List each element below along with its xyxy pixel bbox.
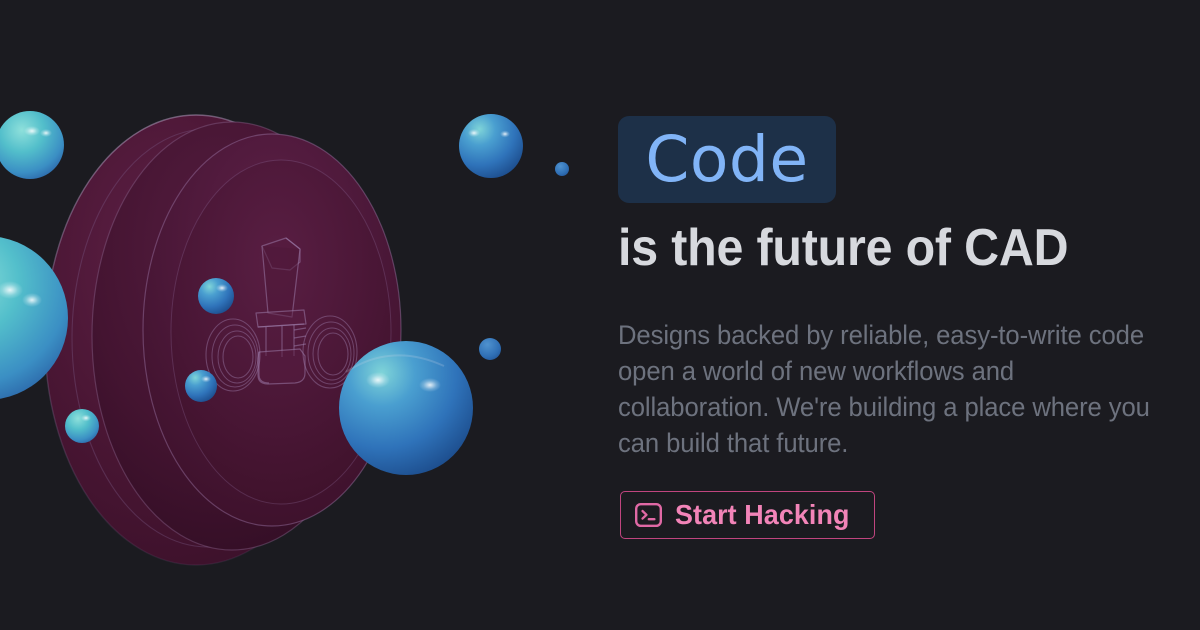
- cad-render-artwork: [0, 0, 600, 630]
- sphere-blue-disc-upper: [198, 278, 234, 314]
- code-badge-label: Code: [645, 128, 808, 191]
- hero-description: Designs backed by reliable, easy-to-writ…: [618, 317, 1155, 461]
- start-hacking-label: Start Hacking: [675, 499, 850, 531]
- sphere-blue-top: [459, 114, 523, 178]
- sphere-blue-large: [339, 341, 473, 475]
- sphere-blue-dot-small: [479, 338, 501, 360]
- sphere-blue-disc-lower: [185, 370, 217, 402]
- hero-content: Code is the future of CAD Designs backed…: [618, 0, 1200, 630]
- terminal-icon: [635, 503, 662, 527]
- page-title: is the future of CAD: [618, 218, 1139, 278]
- sphere-blue-dot-tiny: [555, 162, 569, 176]
- start-hacking-button[interactable]: Start Hacking: [620, 491, 875, 539]
- sphere-blue-edge-left: [65, 409, 99, 443]
- code-badge: Code: [618, 116, 836, 203]
- hero-banner: Code is the future of CAD Designs backed…: [0, 0, 1200, 630]
